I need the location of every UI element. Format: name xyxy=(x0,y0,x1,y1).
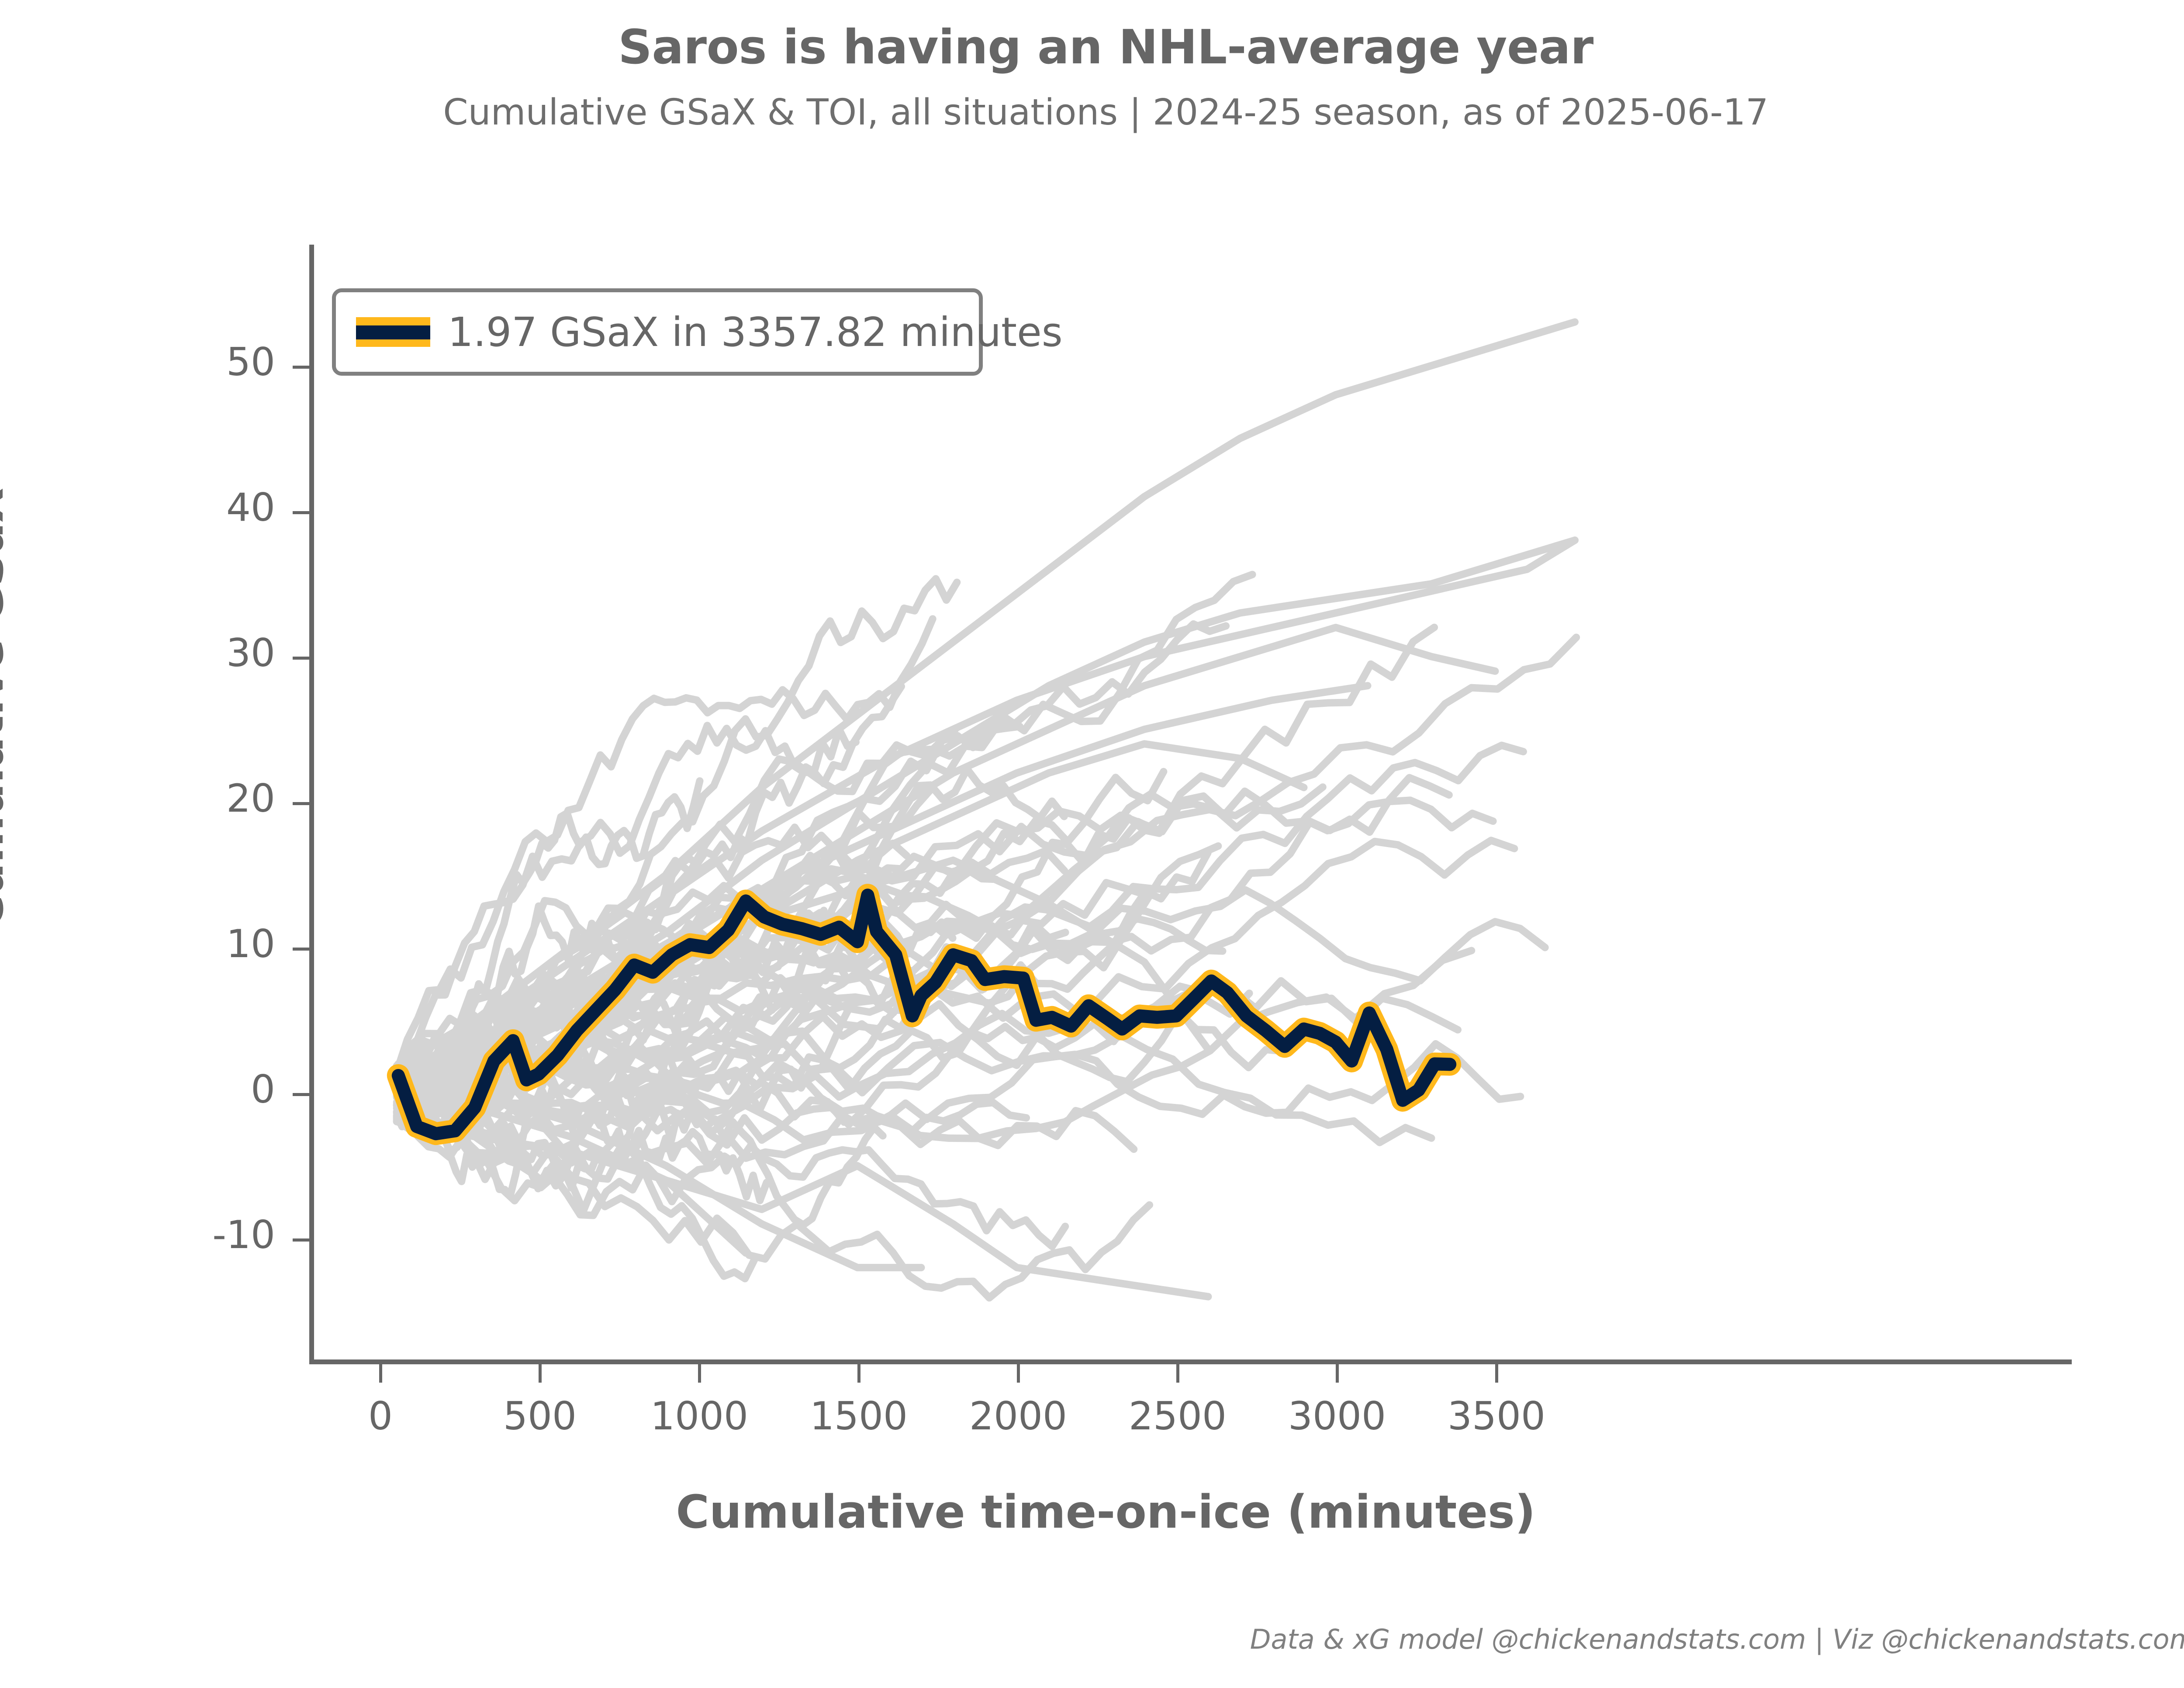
legend-line-swatch xyxy=(356,317,430,347)
background-goalie-lines xyxy=(397,322,1576,1298)
x-tick-3000 xyxy=(1336,1364,1339,1383)
x-tick-0 xyxy=(379,1364,382,1383)
y-tick-label-0: 0 xyxy=(70,1067,275,1112)
x-axis-spine xyxy=(309,1359,2072,1364)
page-subtitle: Cumulative GSaX & TOI, all situations | … xyxy=(0,92,2184,133)
y-tick-label-10: 10 xyxy=(70,921,275,966)
x-tick-label-3500: 3500 xyxy=(1387,1394,1606,1439)
x-tick-3500 xyxy=(1495,1364,1498,1383)
x-axis-title: Cumulative time-on-ice (minutes) xyxy=(0,1485,2184,1539)
y-tick-40 xyxy=(293,511,309,514)
y-tick-50 xyxy=(293,366,309,369)
footer-credit: Data & xG model @chickenandstats.com | V… xyxy=(1250,1623,2184,1655)
chart-page: Saros is having an NHL-average year Cumu… xyxy=(0,0,2184,1688)
y-tick-10 xyxy=(293,948,309,951)
x-tick-2500 xyxy=(1176,1364,1179,1383)
x-tick-500 xyxy=(539,1364,542,1383)
plot-area xyxy=(309,245,2072,1362)
chart-legend[interactable]: 1.97 GSaX in 3357.82 minutes xyxy=(332,288,983,376)
page-title: Saros is having an NHL-average year xyxy=(0,20,2184,75)
y-tick-label-neg10: -10 xyxy=(70,1212,275,1257)
x-tick-1000 xyxy=(698,1364,701,1383)
y-axis-title: Cumulative GSaX xyxy=(0,337,14,1079)
x-tick-1500 xyxy=(857,1364,860,1383)
y-tick-neg10 xyxy=(293,1238,309,1242)
y-tick-label-50: 50 xyxy=(70,339,275,384)
y-tick-label-30: 30 xyxy=(70,630,275,675)
y-tick-30 xyxy=(293,657,309,660)
y-tick-label-20: 20 xyxy=(70,776,275,821)
y-tick-20 xyxy=(293,802,309,805)
y-tick-0 xyxy=(293,1093,309,1096)
x-tick-2000 xyxy=(1017,1364,1020,1383)
y-tick-label-40: 40 xyxy=(70,485,275,530)
chart-canvas xyxy=(309,245,2072,1362)
legend-label: 1.97 GSaX in 3357.82 minutes xyxy=(448,309,1063,356)
